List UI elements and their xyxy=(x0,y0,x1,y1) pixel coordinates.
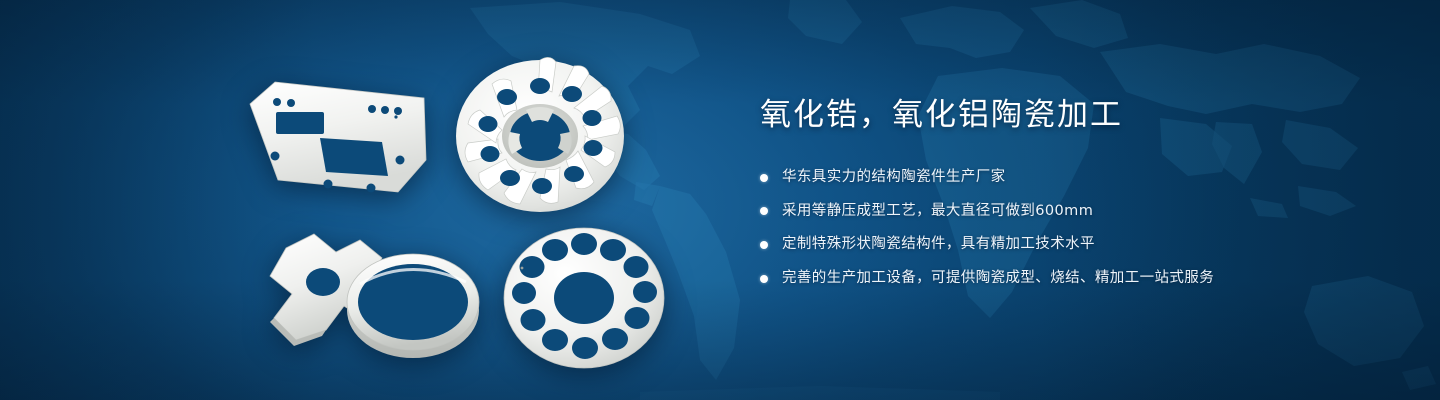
feature-text: 采用等静压成型工艺，最大直径可做到600mm xyxy=(782,201,1093,223)
list-item: 华东具实力的结构陶瓷件生产厂家 xyxy=(760,167,1360,189)
list-item: 完善的生产加工设备，可提供陶瓷成型、烧结、精加工一站式服务 xyxy=(760,268,1360,290)
bullet-icon xyxy=(760,275,768,283)
banner-copy: 氧化锆，氧化铝陶瓷加工 华东具实力的结构陶瓷件生产厂家 采用等静压成型工艺，最大… xyxy=(760,96,1360,302)
product-showcase xyxy=(0,0,740,400)
list-item: 采用等静压成型工艺，最大直径可做到600mm xyxy=(760,201,1360,223)
bullet-icon xyxy=(760,207,768,215)
page-title: 氧化锆，氧化铝陶瓷加工 xyxy=(760,96,1360,135)
list-item: 定制特殊形状陶瓷结构件，具有精加工技术水平 xyxy=(760,234,1360,256)
ceramic-plate-with-cutouts xyxy=(248,76,428,198)
promo-banner: 氧化锆，氧化铝陶瓷加工 华东具实力的结构陶瓷件生产厂家 采用等静压成型工艺，最大… xyxy=(0,0,1440,400)
feature-text: 华东具实力的结构陶瓷件生产厂家 xyxy=(782,167,1006,189)
feature-list: 华东具实力的结构陶瓷件生产厂家 采用等静压成型工艺，最大直径可做到600mm 定… xyxy=(760,167,1360,290)
feature-text: 定制特殊形状陶瓷结构件，具有精加工技术水平 xyxy=(782,234,1095,256)
feature-text: 完善的生产加工设备，可提供陶瓷成型、烧结、精加工一站式服务 xyxy=(782,268,1214,290)
ceramic-perforated-ring-disc xyxy=(500,222,668,374)
ceramic-cross-plate-and-ring xyxy=(248,226,498,376)
bullet-icon xyxy=(760,241,768,249)
bullet-icon xyxy=(760,174,768,182)
ceramic-impeller-disc xyxy=(452,48,628,218)
